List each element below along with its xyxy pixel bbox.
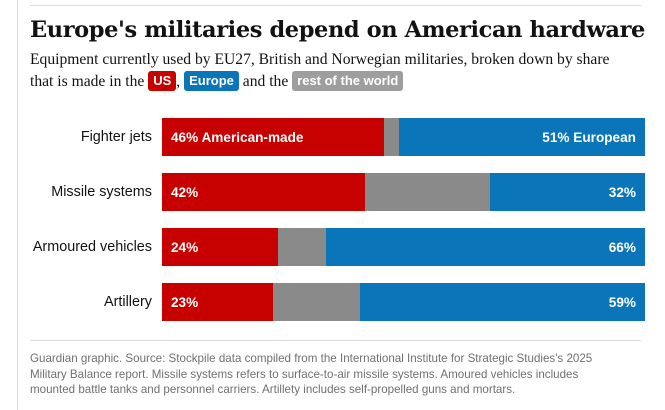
bar-segment-us: 24%	[162, 228, 278, 266]
bar-segment-europe: 32%	[490, 173, 645, 211]
bar-track: 23% 59%	[162, 283, 645, 321]
page-title: Europe's militaries depend on American h…	[30, 17, 645, 43]
bar-segment-value-label: 32%	[609, 185, 636, 200]
bar-segment-rest-of-world	[273, 283, 360, 321]
table-row: Artillery 23% 59%	[30, 283, 645, 321]
footer-divider	[30, 340, 641, 341]
bar-segment-rest-of-world	[384, 118, 398, 156]
bar-segment-value-label: 24%	[171, 240, 198, 255]
source-note: Guardian graphic. Source: Stockpile data…	[30, 351, 622, 398]
bar-segment-us: 23%	[162, 283, 273, 321]
subtitle-text-and: and the	[239, 73, 292, 90]
bar-segment-value-label: 46% American-made	[171, 130, 303, 145]
bar-category-label: Artillery	[30, 283, 162, 321]
legend-badge-europe: Europe	[184, 71, 239, 91]
table-row: Fighter jets 46% American-made 51% Europ…	[30, 118, 645, 156]
bar-segment-value-label: 66%	[609, 240, 636, 255]
bar-category-label: Missile systems	[30, 173, 162, 211]
subtitle-text-comma: ,	[176, 73, 184, 90]
bar-segment-rest-of-world	[365, 173, 491, 211]
bar-segment-value-label: 51% European	[542, 130, 636, 145]
left-vertical-rule	[17, 0, 18, 410]
bar-segment-value-label: 59%	[609, 295, 636, 310]
chart-subtitle: Equipment currently used by EU27, Britis…	[30, 49, 610, 93]
bar-track: 24% 66%	[162, 228, 645, 266]
bar-segment-europe: 66%	[326, 228, 645, 266]
legend-badge-rest-of-world: rest of the world	[292, 71, 403, 91]
top-divider	[30, 5, 641, 6]
table-row: Missile systems 42% 32%	[30, 173, 645, 211]
bar-segment-us: 46% American-made	[162, 118, 384, 156]
bar-segment-value-label: 42%	[171, 185, 198, 200]
bar-segment-europe: 59%	[360, 283, 645, 321]
bar-segment-europe: 51% European	[399, 118, 645, 156]
bar-chart-plot-area: Fighter jets 46% American-made 51% Europ…	[30, 118, 645, 338]
bar-track: 46% American-made 51% European	[162, 118, 645, 156]
legend-badge-us: US	[148, 71, 176, 91]
table-row: Armoured vehicles 24% 66%	[30, 228, 645, 266]
chart-container: Europe's militaries depend on American h…	[30, 0, 645, 410]
bar-segment-us: 42%	[162, 173, 365, 211]
bar-track: 42% 32%	[162, 173, 645, 211]
bar-category-label: Armoured vehicles	[30, 228, 162, 266]
bar-segment-value-label: 23%	[171, 295, 198, 310]
bar-category-label: Fighter jets	[30, 118, 162, 156]
bar-segment-rest-of-world	[278, 228, 326, 266]
